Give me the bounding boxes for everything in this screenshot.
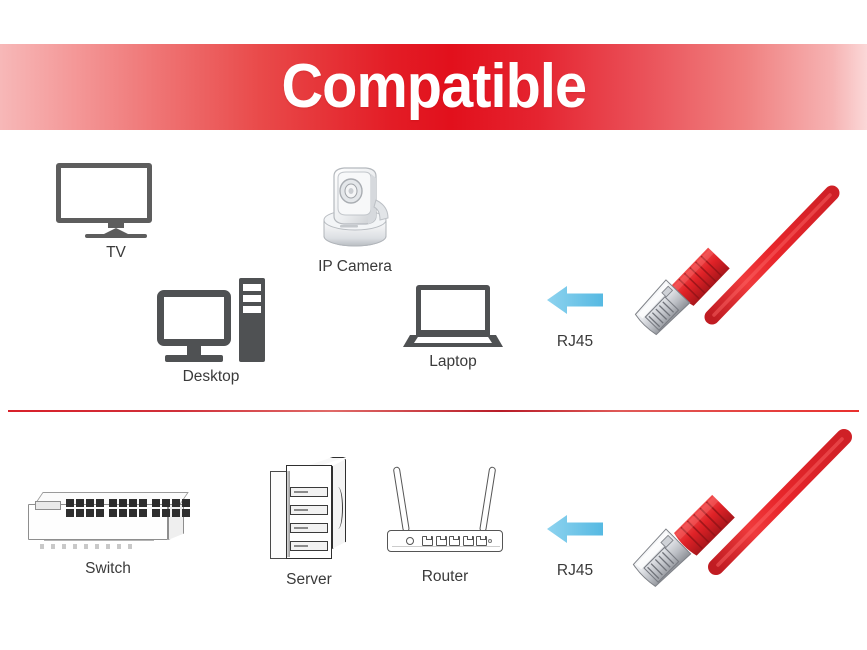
server-rack-icon [270, 457, 348, 565]
device-label-ipcamera: IP Camera [295, 258, 415, 277]
arrow-left-icon [546, 512, 604, 546]
header-banner: Compatible [0, 44, 867, 130]
rj45-pointer-top: RJ45 [540, 283, 610, 351]
rj45-pointer-bottom: RJ45 [540, 512, 610, 580]
device-router: Router [385, 462, 505, 587]
network-switch-icon [28, 492, 188, 554]
device-server: Server [264, 457, 354, 590]
device-tv: TV [56, 163, 176, 263]
device-switch: Switch [28, 492, 188, 579]
desktop-computer-icon [146, 278, 276, 362]
wireless-router-icon [385, 462, 505, 562]
device-label-tv: TV [56, 244, 176, 263]
laptop-icon [398, 285, 508, 347]
device-laptop: Laptop [398, 285, 508, 372]
device-label-server: Server [264, 571, 354, 590]
device-ipcamera: IP Camera [295, 160, 415, 277]
rj45-patch-cable-bottom [612, 425, 867, 625]
page-title: Compatible [281, 56, 586, 118]
rj45-label-top: RJ45 [540, 333, 610, 351]
ip-camera-icon [310, 160, 400, 252]
rj45-label-bottom: RJ45 [540, 562, 610, 580]
rj45-patch-cable-top [620, 185, 867, 370]
television-icon [56, 163, 176, 238]
device-label-switch: Switch [28, 560, 188, 579]
device-desktop: Desktop [146, 278, 276, 387]
device-label-laptop: Laptop [398, 353, 508, 372]
device-label-router: Router [385, 568, 505, 587]
section-divider [8, 410, 859, 412]
device-label-desktop: Desktop [146, 368, 276, 387]
arrow-left-icon [546, 283, 604, 317]
